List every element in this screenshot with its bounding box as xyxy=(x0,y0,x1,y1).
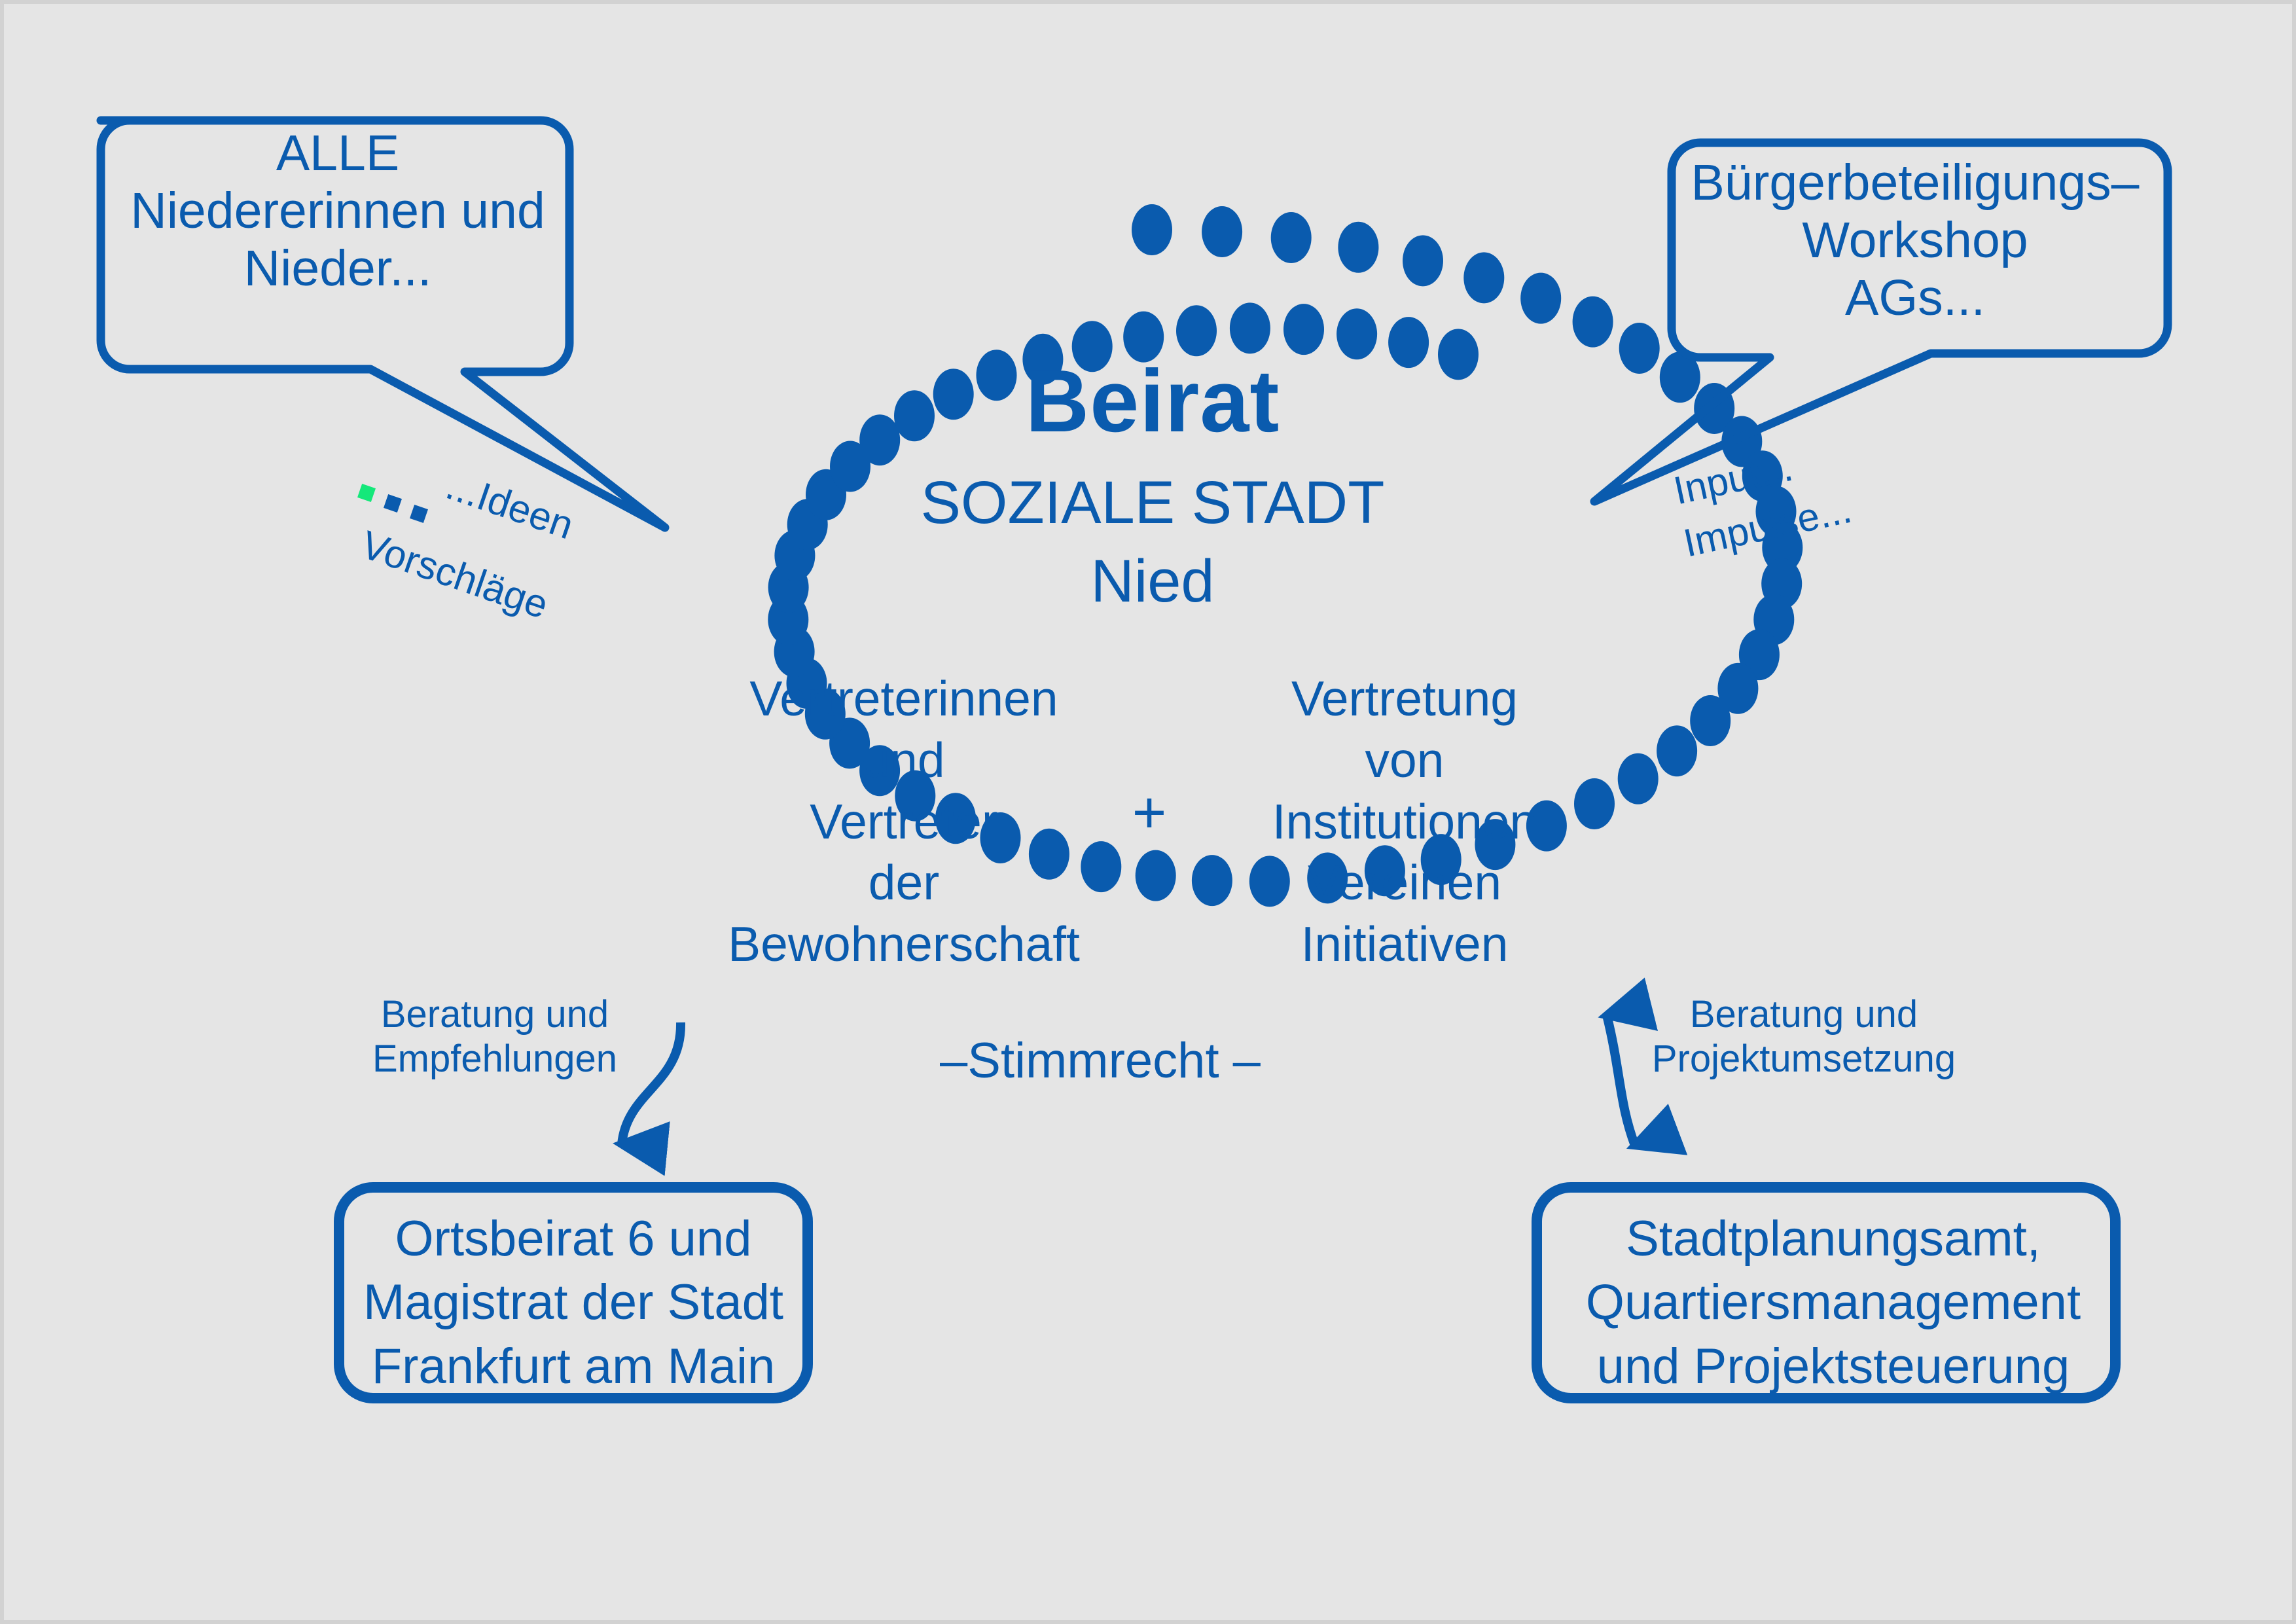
center-column-left: Vertreterinnen und Vertreter der Bewohne… xyxy=(688,668,1120,975)
diagram-canvas: ALLE Niedererinnen und Nieder... Bürgerb… xyxy=(0,0,2296,1624)
arrow-right-double xyxy=(1607,1015,1635,1146)
green-accent-dot xyxy=(357,484,376,502)
blue-accent-dot-2 xyxy=(410,505,428,523)
center-subtitle-line2: Nied xyxy=(793,547,1513,616)
box-bottom-left-label: Ortsbeirat 6 und Magistrat der Stadt Fra… xyxy=(344,1207,802,1398)
bubble-top-right-label: Bürgerbeteiligungs– Workshop AGs... xyxy=(1676,154,2154,327)
edge-label-right: Beratung und Projektumsetzung xyxy=(1647,992,1961,1082)
center-title: Beirat xyxy=(793,351,1513,452)
edge-label-left: Beratung und Empfehlungen xyxy=(357,992,632,1082)
blue-accent-dot-1 xyxy=(384,494,402,513)
center-column-right: Vertretung von Institutionen Vereinen In… xyxy=(1189,668,1621,975)
box-bottom-right-label: Stadtplanungsamt, Quartiersmanagement un… xyxy=(1545,1207,2121,1398)
bubble-top-left-label: ALLE Niedererinnen und Nieder... xyxy=(102,125,573,297)
stimmrecht-footnote: –Stimmrecht – xyxy=(838,1033,1362,1090)
center-subtitle-line1: SOZIALE STADT xyxy=(793,469,1513,537)
